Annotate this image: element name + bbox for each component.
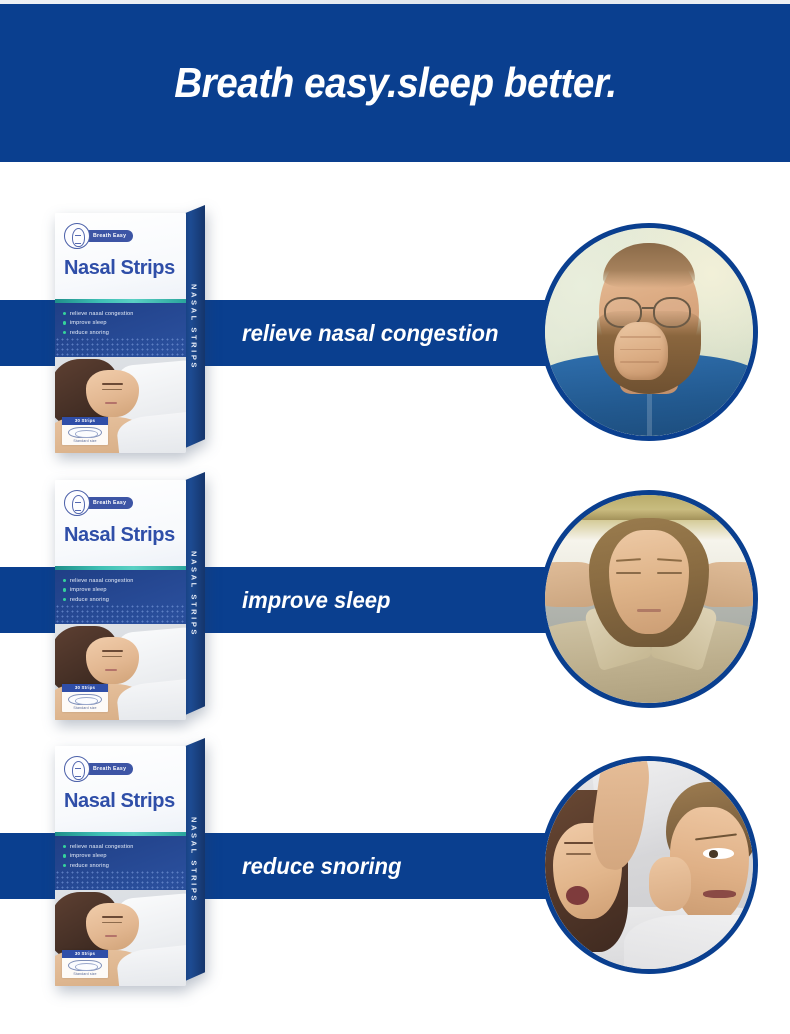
box-product-title: Nasal Strips (64, 257, 175, 280)
box-bullet-label: reduce snoring (70, 863, 109, 869)
nasal-strip-icon (68, 960, 102, 971)
brand-logo: Breath Easy (64, 490, 133, 516)
box-bullet-label: reduce snoring (70, 597, 109, 603)
feature-photo-circle (540, 756, 758, 974)
product-box: NASAL STRIPS Breath Easy Nasal Strips (55, 746, 205, 986)
product-box-spine: NASAL STRIPS (183, 472, 205, 716)
box-bullet-item: relieve nasal congestion (63, 578, 134, 584)
spine-label: NASAL STRIPS (190, 551, 199, 637)
box-bullet-label: improve sleep (70, 853, 107, 859)
product-box-spine: NASAL STRIPS (183, 738, 205, 982)
product-box-front: Breath Easy Nasal Strips relieve nasal c… (55, 213, 186, 453)
box-top-panel: Breath Easy Nasal Strips (55, 213, 186, 299)
strip-count-label: 30 Strips Standard size (62, 950, 108, 978)
box-top-panel: Breath Easy Nasal Strips (55, 746, 186, 832)
product-feature-page: Breath easy.sleep better. relieve nasal … (0, 0, 790, 1034)
box-bullet-label: relieve nasal congestion (70, 844, 134, 850)
feature-photo-circle (540, 223, 758, 441)
feature-label: relieve nasal congestion (242, 320, 498, 347)
nasal-strip-icon (68, 694, 102, 705)
box-bullet-item: reduce snoring (63, 597, 134, 603)
brand-badge-label: Breath Easy (84, 230, 133, 243)
bullet-dot-icon (63, 598, 66, 601)
product-box-front: Breath Easy Nasal Strips relieve nasal c… (55, 480, 186, 720)
bullet-dot-icon (63, 854, 66, 857)
box-bullet-label: reduce snoring (70, 330, 109, 336)
feature-row-relieve-nasal-congestion: relieve nasal congestion NASAL STRIPS Br… (0, 205, 790, 455)
box-bullet-item: improve sleep (63, 853, 134, 859)
box-bottom-panel: relieve nasal congestion improve sleep r… (55, 836, 186, 987)
product-box: NASAL STRIPS Breath Easy Nasal Strips (55, 213, 205, 453)
strip-count-text: 30 Strips (62, 417, 108, 425)
bullet-dot-icon (63, 312, 66, 315)
photo-man-resting (545, 495, 753, 703)
box-bottom-panel: relieve nasal congestion improve sleep r… (55, 570, 186, 721)
nose-face-icon (64, 756, 90, 782)
spine-label: NASAL STRIPS (190, 284, 199, 370)
feature-photo-circle (540, 490, 758, 708)
brand-badge-label: Breath Easy (84, 497, 133, 510)
product-box-spine: NASAL STRIPS (183, 205, 205, 449)
brand-logo: Breath Easy (64, 756, 133, 782)
box-bullet-item: reduce snoring (63, 330, 134, 336)
bullet-dot-icon (63, 588, 66, 591)
strip-size-text: Standard size (62, 439, 108, 443)
box-bullet-label: improve sleep (70, 320, 107, 326)
brand-badge-label: Breath Easy (84, 763, 133, 776)
box-product-title: Nasal Strips (64, 524, 175, 547)
box-bullet-item: reduce snoring (63, 863, 134, 869)
feature-label: reduce snoring (242, 853, 402, 880)
nasal-strip-icon (68, 427, 102, 438)
bullet-dot-icon (63, 579, 66, 582)
photo-man-pinching-nose (545, 228, 753, 436)
box-bullet-item: improve sleep (63, 587, 134, 593)
box-bottom-panel: relieve nasal congestion improve sleep r… (55, 303, 186, 454)
feature-row-improve-sleep: improve sleep NASAL STRIPS Breath Easy N… (0, 472, 790, 722)
brand-logo: Breath Easy (64, 223, 133, 249)
box-bullet-list: relieve nasal congestion improve sleep r… (63, 844, 134, 873)
box-top-panel: Breath Easy Nasal Strips (55, 480, 186, 566)
strip-count-text: 30 Strips (62, 950, 108, 958)
nose-face-icon (64, 490, 90, 516)
product-box-front: Breath Easy Nasal Strips relieve nasal c… (55, 746, 186, 986)
spine-label: NASAL STRIPS (190, 817, 199, 903)
header-banner: Breath easy.sleep better. (0, 4, 790, 162)
strip-count-label: 30 Strips Standard size (62, 417, 108, 445)
box-bullet-list: relieve nasal congestion improve sleep r… (63, 311, 134, 340)
photo-couple-snoring (545, 761, 753, 969)
bullet-dot-icon (63, 845, 66, 848)
feature-row-reduce-snoring: reduce snoring NASAL STRIPS Breath Easy … (0, 738, 790, 988)
box-bullet-label: relieve nasal congestion (70, 578, 134, 584)
strip-size-text: Standard size (62, 972, 108, 976)
bullet-dot-icon (63, 321, 66, 324)
box-bullet-list: relieve nasal congestion improve sleep r… (63, 578, 134, 607)
box-bullet-item: improve sleep (63, 320, 134, 326)
box-product-title: Nasal Strips (64, 790, 175, 813)
bullet-dot-icon (63, 331, 66, 334)
strip-count-label: 30 Strips Standard size (62, 684, 108, 712)
box-bullet-item: relieve nasal congestion (63, 844, 134, 850)
feature-label: improve sleep (242, 587, 391, 614)
bullet-dot-icon (63, 864, 66, 867)
box-bullet-label: relieve nasal congestion (70, 311, 134, 317)
nose-face-icon (64, 223, 90, 249)
box-bullet-item: relieve nasal congestion (63, 311, 134, 317)
product-box: NASAL STRIPS Breath Easy Nasal Strips (55, 480, 205, 720)
page-title: Breath easy.sleep better. (174, 59, 616, 107)
strip-count-text: 30 Strips (62, 684, 108, 692)
box-bullet-label: improve sleep (70, 587, 107, 593)
strip-size-text: Standard size (62, 706, 108, 710)
